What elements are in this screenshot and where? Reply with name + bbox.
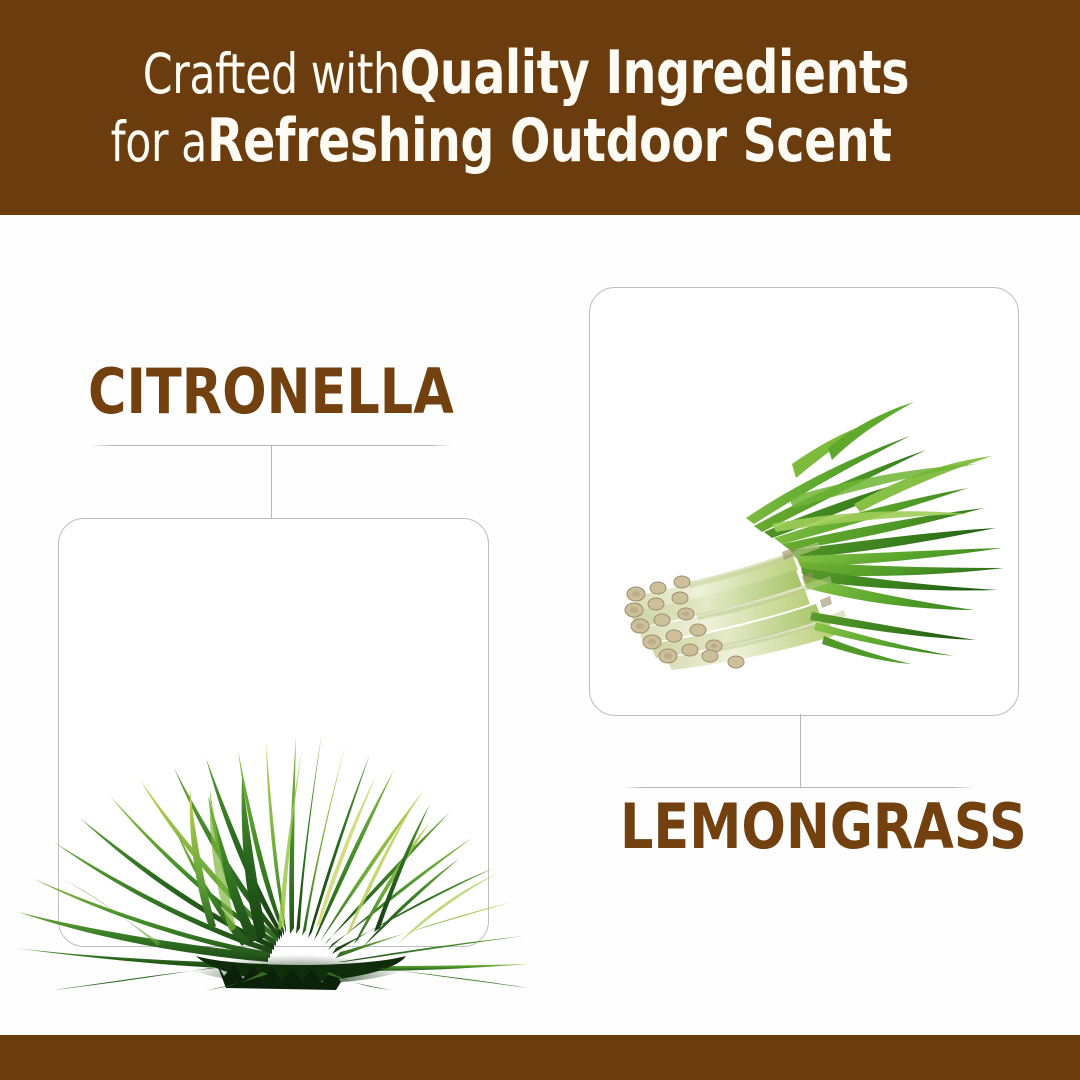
citronella-image-frame	[58, 518, 489, 947]
lemongrass-image-frame	[589, 287, 1019, 716]
lemongrass-horizontal-rule	[623, 787, 975, 788]
ingredient-label-lemongrass: LEMONGRASS	[620, 790, 1027, 863]
ingredient-poster: Crafted with Quality Ingredients for a R…	[0, 0, 1080, 1080]
headline-line-2-light: for a	[111, 115, 207, 171]
footer-banner	[0, 1035, 1080, 1080]
citronella-connector-line	[271, 445, 272, 519]
headline-line-2-bold: Refreshing Outdoor Scent	[207, 111, 892, 172]
header-banner: Crafted with Quality Ingredients for a R…	[0, 0, 1080, 215]
headline-line-1-light: Crafted with	[143, 47, 400, 103]
headline-line-1: Crafted with Quality Ingredients	[101, 43, 978, 104]
headline-line-1-bold: Quality Ingredients	[400, 43, 909, 104]
lemongrass-connector-line	[800, 714, 801, 787]
headline-line-2: for a Refreshing Outdoor Scent	[95, 111, 985, 172]
ingredient-label-citronella: CITRONELLA	[88, 355, 454, 428]
